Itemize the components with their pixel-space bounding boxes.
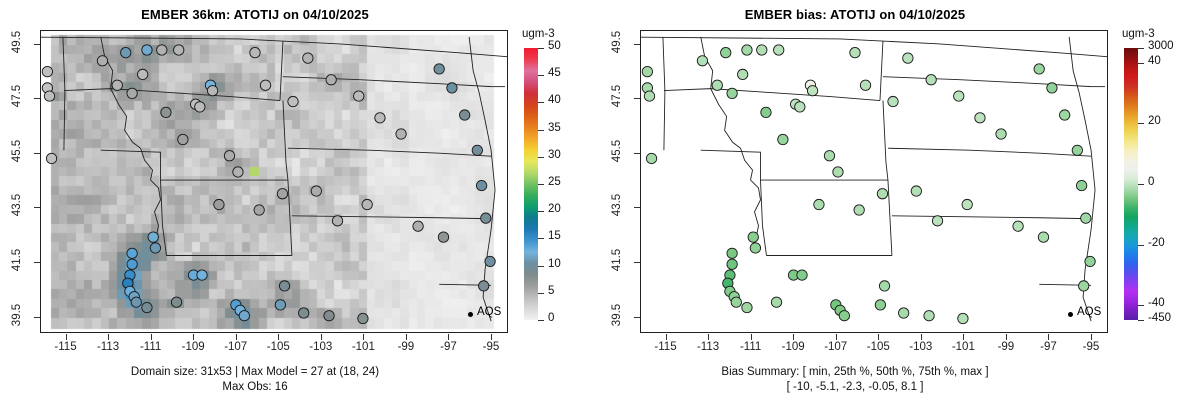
observation-marker[interactable]	[1013, 221, 1023, 231]
observation-marker[interactable]	[1060, 110, 1070, 120]
observation-marker[interactable]	[239, 311, 249, 321]
observation-marker[interactable]	[1085, 256, 1095, 266]
observation-marker[interactable]	[148, 232, 158, 242]
y-tick	[34, 98, 40, 99]
observation-marker[interactable]	[757, 45, 767, 55]
panel-model-concentration: EMBER 36km: ATOTIJ on 04/10/2025 AQS -11…	[0, 0, 600, 409]
x-tick-label: -115	[646, 341, 686, 353]
observation-marker[interactable]	[298, 308, 308, 318]
colorbar-tick-label: 0	[1148, 176, 1154, 188]
observation-marker[interactable]	[839, 311, 849, 321]
observation-marker[interactable]	[311, 186, 321, 196]
colorbar-tick	[538, 293, 544, 294]
observation-marker[interactable]	[233, 167, 243, 177]
observation-marker[interactable]	[476, 180, 486, 190]
x-tick	[236, 334, 237, 340]
observation-marker[interactable]	[774, 45, 784, 55]
panel-left-title: EMBER 36km: ATOTIJ on 04/10/2025	[0, 7, 510, 22]
y-tick-label: 39.5	[11, 300, 23, 330]
x-tick	[666, 334, 667, 340]
y-tick	[34, 153, 40, 154]
caption-bias-summary-header: Bias Summary: [ min, 25th %, 50th %, 75t…	[600, 366, 1110, 378]
x-tick	[963, 334, 964, 340]
x-tick	[321, 334, 322, 340]
y-tick	[34, 207, 40, 208]
x-tick-label: -109	[173, 341, 213, 353]
colorbar-tick	[1138, 123, 1144, 124]
observation-marker[interactable]	[112, 80, 122, 90]
observation-marker[interactable]	[778, 134, 788, 144]
x-tick-label: -107	[816, 341, 856, 353]
observation-marker[interactable]	[161, 107, 171, 117]
observation-marker[interactable]	[748, 232, 758, 242]
y-tick-label: 49.5	[611, 27, 623, 57]
x-tick	[921, 334, 922, 340]
caption-bias-summary-values: [ -10, -5.1, -2.3, -0.05, 8.1 ]	[600, 381, 1110, 393]
x-tick-label: -101	[343, 341, 383, 353]
colorbar-tick-label: 10	[548, 258, 561, 270]
observation-marker[interactable]	[438, 232, 448, 242]
observation-marker[interactable]	[46, 153, 56, 163]
observation-marker[interactable]	[742, 45, 752, 55]
colorbar-ticks-right: -450-40-20020403000	[1138, 48, 1198, 320]
observation-marker[interactable]	[644, 91, 654, 101]
y-tick-label: 41.5	[611, 245, 623, 275]
observation-marker[interactable]	[137, 69, 147, 79]
observation-marker[interactable]	[460, 110, 470, 120]
observation-marker[interactable]	[207, 86, 217, 96]
x-tick	[878, 334, 879, 340]
observation-marker[interactable]	[174, 45, 184, 55]
observation-marker[interactable]	[642, 66, 652, 76]
colorbar-tick-label: 3000	[1148, 40, 1174, 52]
colorbar-tick	[538, 238, 544, 239]
colorbar-unit-right: ugm-3	[1122, 28, 1155, 40]
observation-marker[interactable]	[903, 53, 913, 63]
colorbar-tick	[1138, 305, 1144, 306]
observation-marker[interactable]	[485, 256, 495, 266]
colorbar-tick-label: 25	[548, 176, 561, 188]
observation-marker[interactable]	[260, 80, 270, 90]
observation-marker[interactable]	[888, 96, 898, 106]
colorbar-tick-label: 30	[548, 149, 561, 161]
observation-marker[interactable]	[332, 216, 342, 226]
observation-marker[interactable]	[121, 47, 131, 57]
observation-marker[interactable]	[926, 75, 936, 85]
colorbar-tick-label: 45	[548, 67, 561, 79]
y-tick	[634, 153, 640, 154]
observation-marker[interactable]	[854, 205, 864, 215]
colorbar-tick	[1138, 245, 1144, 246]
y-tick-label: 45.5	[11, 136, 23, 166]
observation-marker[interactable]	[1076, 180, 1086, 190]
observation-marker[interactable]	[761, 107, 771, 117]
x-tick-label: -97	[428, 341, 468, 353]
y-tick-label: 47.5	[11, 81, 23, 111]
observation-marker[interactable]	[324, 311, 334, 321]
colorbar-tick-label: 20	[548, 203, 561, 215]
observation-marker[interactable]	[275, 300, 285, 310]
observation-marker[interactable]	[797, 270, 807, 280]
y-tick	[634, 98, 640, 99]
observation-marker[interactable]	[850, 47, 860, 57]
x-tick-label: -99	[386, 341, 426, 353]
x-tick-label: -115	[46, 341, 86, 353]
colorbar-tick-label: 15	[548, 230, 561, 242]
y-tick	[34, 317, 40, 318]
observation-marker[interactable]	[288, 96, 298, 106]
observation-marker[interactable]	[250, 47, 260, 57]
observation-marker[interactable]	[1072, 145, 1082, 155]
colorbar-tick-label: 0	[548, 312, 554, 324]
y-tick-label: 43.5	[11, 190, 23, 220]
observation-marker[interactable]	[142, 302, 152, 312]
y-tick-label: 47.5	[611, 81, 623, 111]
x-tick	[1091, 334, 1092, 340]
observation-marker[interactable]	[197, 270, 207, 280]
observation-marker[interactable]	[771, 297, 781, 307]
y-tick-label: 49.5	[11, 27, 23, 57]
x-tick	[406, 334, 407, 340]
observation-marker[interactable]	[1079, 281, 1089, 291]
caption-max-obs: Max Obs: 16	[0, 381, 510, 393]
observation-marker[interactable]	[42, 66, 52, 76]
observation-marker[interactable]	[833, 167, 843, 177]
observation-marker[interactable]	[224, 151, 234, 161]
observation-marker[interactable]	[814, 199, 824, 209]
x-tick	[66, 334, 67, 340]
observation-marker[interactable]	[975, 113, 985, 123]
observation-marker[interactable]	[303, 53, 313, 63]
observation-marker[interactable]	[1047, 83, 1057, 93]
x-tick	[1048, 334, 1049, 340]
observation-marker[interactable]	[277, 189, 287, 199]
x-tick-label: -113	[88, 341, 128, 353]
observation-marker[interactable]	[326, 75, 336, 85]
x-tick-label: -111	[131, 341, 171, 353]
x-tick	[793, 334, 794, 340]
colorbar-tick	[538, 266, 544, 267]
colorbar-tick-label: -450	[1148, 312, 1171, 324]
x-tick-label: -103	[901, 341, 941, 353]
observation-marker[interactable]	[44, 91, 54, 101]
colorbar-tick-label: 50	[548, 40, 561, 52]
observation-marker[interactable]	[472, 145, 482, 155]
observation-marker[interactable]	[877, 189, 887, 199]
observation-marker[interactable]	[737, 69, 747, 79]
observation-marker[interactable]	[996, 129, 1006, 139]
aqs-legend-label: AQS	[1077, 306, 1101, 318]
colorbar-tick	[538, 184, 544, 185]
x-tick	[751, 334, 752, 340]
x-tick	[151, 334, 152, 340]
colorbar-tick-label: -40	[1148, 297, 1165, 309]
observation-marker[interactable]	[731, 297, 741, 307]
observation-marker[interactable]	[807, 86, 817, 96]
y-tick	[634, 44, 640, 45]
y-tick	[634, 317, 640, 318]
observation-marker[interactable]	[127, 88, 137, 98]
observation-marker[interactable]	[824, 151, 834, 161]
observation-marker[interactable]	[195, 102, 205, 112]
x-tick	[448, 334, 449, 340]
x-tick	[363, 334, 364, 340]
x-tick-label: -95	[471, 341, 511, 353]
x-tick-label: -95	[1071, 341, 1111, 353]
observation-marker[interactable]	[1081, 213, 1091, 223]
colorbar-tick	[538, 130, 544, 131]
observation-marker[interactable]	[279, 281, 289, 291]
observation-marker[interactable]	[481, 213, 491, 223]
y-tick	[634, 207, 640, 208]
observation-marker[interactable]	[479, 281, 489, 291]
map-plot-area-left[interactable]: AQS	[40, 30, 508, 333]
observation-marker[interactable]	[150, 243, 160, 253]
x-tick-label: -107	[216, 341, 256, 353]
x-tick-label: -99	[986, 341, 1026, 353]
observation-marker[interactable]	[646, 153, 656, 163]
colorbar-tick-label: -20	[1148, 237, 1165, 249]
x-tick-label: -103	[301, 341, 341, 353]
observation-marker[interactable]	[254, 205, 264, 215]
colorbar-tick	[1138, 63, 1144, 64]
caption-domain-size: Domain size: 31x53 | Max Model = 27 at (…	[0, 366, 510, 378]
observation-marker[interactable]	[131, 297, 141, 307]
x-tick	[108, 334, 109, 340]
y-tick-label: 45.5	[611, 136, 623, 166]
observation-marker[interactable]	[157, 45, 167, 55]
observation-marker[interactable]	[1034, 64, 1044, 74]
aqs-legend-label: AQS	[477, 306, 501, 318]
observation-marker[interactable]	[958, 313, 968, 323]
panel-right-title: EMBER bias: ATOTIJ on 04/10/2025	[600, 7, 1110, 22]
x-tick	[708, 334, 709, 340]
observation-marker[interactable]	[911, 186, 921, 196]
observation-marker[interactable]	[396, 129, 406, 139]
observation-marker[interactable]	[447, 83, 457, 93]
colorbar-tick-label: 40	[548, 94, 561, 106]
y-tick-label: 41.5	[11, 245, 23, 275]
y-tick	[34, 44, 40, 45]
observation-marker[interactable]	[1038, 232, 1048, 242]
x-tick	[836, 334, 837, 340]
colorbar-tick-label: 5	[548, 285, 554, 297]
x-tick	[491, 334, 492, 340]
colorbar-tick	[1138, 184, 1144, 185]
colorbar-tick	[538, 102, 544, 103]
observation-marker[interactable]	[697, 56, 707, 66]
x-tick-label: -105	[258, 341, 298, 353]
observation-marker[interactable]	[727, 248, 737, 258]
colorbar-tick	[1138, 48, 1144, 49]
observation-marker[interactable]	[727, 259, 737, 269]
map-plot-area-right[interactable]: AQS	[640, 30, 1108, 333]
observation-marker[interactable]	[932, 216, 942, 226]
colorbar-tick	[538, 320, 544, 321]
observation-marker[interactable]	[214, 199, 224, 209]
observation-marker[interactable]	[171, 297, 181, 307]
aqs-legend-dot	[1068, 312, 1073, 317]
y-tick	[34, 262, 40, 263]
observation-marker[interactable]	[727, 88, 737, 98]
observation-marker[interactable]	[742, 302, 752, 312]
observation-markers-left[interactable]	[41, 31, 507, 332]
observation-marker[interactable]	[898, 308, 908, 318]
colorbar-tick-label: 40	[1148, 55, 1161, 67]
observation-marker[interactable]	[127, 259, 137, 269]
observation-marker[interactable]	[358, 313, 368, 323]
observation-marker[interactable]	[875, 300, 885, 310]
y-tick-label: 43.5	[611, 190, 623, 220]
panel-bias: EMBER bias: ATOTIJ on 04/10/2025 AQS -11…	[600, 0, 1200, 409]
colorbar-tick	[538, 211, 544, 212]
colorbar-tick	[538, 75, 544, 76]
observation-marker[interactable]	[375, 113, 385, 123]
observation-marker[interactable]	[178, 134, 188, 144]
x-tick-label: -105	[858, 341, 898, 353]
observation-marker[interactable]	[721, 47, 731, 57]
bias-markers-right[interactable]	[641, 31, 1107, 332]
colorbar-gradient-right	[1124, 48, 1138, 320]
observation-marker[interactable]	[954, 91, 964, 101]
x-tick-label: -111	[731, 341, 771, 353]
observation-marker[interactable]	[127, 248, 137, 258]
observation-marker[interactable]	[924, 311, 934, 321]
observation-marker[interactable]	[413, 221, 423, 231]
colorbar-ticks-left: 05101520253035404550	[538, 48, 598, 320]
observation-marker[interactable]	[142, 45, 152, 55]
observation-marker[interactable]	[750, 243, 760, 253]
x-tick-label: -101	[943, 341, 983, 353]
observation-marker[interactable]	[795, 102, 805, 112]
x-tick	[278, 334, 279, 340]
observation-marker[interactable]	[97, 56, 107, 66]
observation-marker[interactable]	[962, 199, 972, 209]
observation-marker[interactable]	[362, 199, 372, 209]
y-tick-label: 39.5	[611, 300, 623, 330]
aqs-legend-dot	[468, 312, 473, 317]
observation-marker[interactable]	[434, 64, 444, 74]
y-tick	[634, 262, 640, 263]
x-tick	[1006, 334, 1007, 340]
x-tick-label: -113	[688, 341, 728, 353]
x-tick-label: -109	[773, 341, 813, 353]
colorbar-gradient-left	[524, 48, 538, 320]
x-tick-label: -97	[1028, 341, 1068, 353]
colorbar-unit-left: ugm-3	[522, 28, 555, 40]
observation-marker[interactable]	[354, 91, 364, 101]
colorbar-tick	[1138, 320, 1144, 321]
colorbar-tick	[538, 48, 544, 49]
colorbar-tick-label: 20	[1148, 115, 1161, 127]
observation-marker[interactable]	[879, 281, 889, 291]
colorbar-tick-label: 35	[548, 122, 561, 134]
observation-marker[interactable]	[712, 80, 722, 90]
observation-marker[interactable]	[860, 80, 870, 90]
colorbar-tick	[538, 157, 544, 158]
x-tick	[193, 334, 194, 340]
